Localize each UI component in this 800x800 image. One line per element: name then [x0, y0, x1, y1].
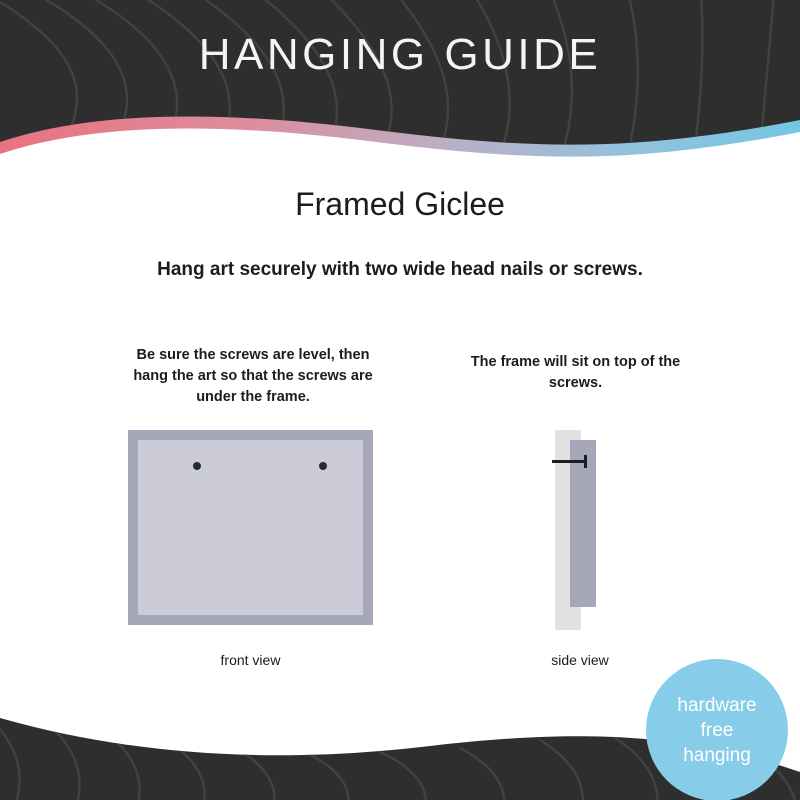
side-view-screw-shaft — [552, 460, 586, 463]
front-view-mat — [138, 440, 363, 615]
side-view-instruction: The frame will sit on top of the screws. — [463, 352, 688, 394]
hardware-free-hanging-badge: hardware free hanging — [646, 659, 788, 800]
screw-dot-left — [193, 462, 201, 470]
header-wave-graphic — [0, 0, 800, 160]
front-view-instruction: Be sure the screws are level, then hang … — [128, 345, 378, 408]
page-title: HANGING GUIDE — [0, 30, 800, 80]
badge-line-3: hanging — [683, 743, 751, 768]
product-title: Framed Giclee — [0, 186, 800, 223]
hanging-guide-page: HANGING GUIDE Framed Giclee Hang art sec… — [0, 0, 800, 800]
badge-line-1: hardware — [677, 693, 756, 718]
side-view-caption: side view — [500, 652, 660, 668]
side-view-diagram — [540, 430, 620, 630]
lede-instruction: Hang art securely with two wide head nai… — [0, 259, 800, 281]
front-view-frame — [128, 430, 373, 625]
header-band: HANGING GUIDE — [0, 0, 800, 160]
badge-line-2: free — [701, 718, 734, 743]
side-view-screw-head — [584, 455, 587, 468]
side-view-frame — [570, 440, 596, 607]
front-view-caption: front view — [128, 652, 373, 668]
screw-dot-right — [319, 462, 327, 470]
